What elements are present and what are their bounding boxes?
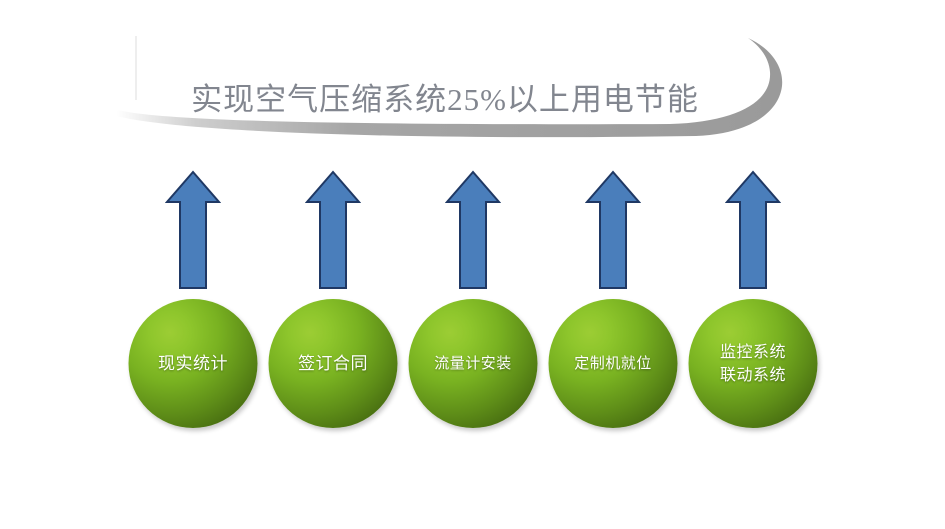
- title-banner: 实现空气压缩系统25%以上用电节能: [110, 30, 790, 140]
- up-arrow-icon: [445, 168, 501, 292]
- up-arrow-icon: [305, 168, 361, 292]
- step-bubble[interactable]: 流量计安装: [409, 299, 538, 428]
- up-arrow-icon: [165, 168, 221, 292]
- process-step-row: 现实统计 签订合同 流量计安装 定: [128, 168, 818, 438]
- step-bubble[interactable]: 签订合同: [269, 299, 398, 428]
- step-bubble[interactable]: 定制机就位: [549, 299, 678, 428]
- step-label: 流量计安装: [428, 353, 518, 375]
- process-step[interactable]: 定制机就位: [548, 168, 678, 436]
- process-step[interactable]: 签订合同: [268, 168, 398, 436]
- page-title: 实现空气压缩系统25%以上用电节能: [155, 74, 735, 119]
- up-arrow-icon: [725, 168, 781, 292]
- step-label: 监控系统 联动系统: [714, 341, 792, 387]
- up-arrow-icon: [585, 168, 641, 292]
- step-label: 现实统计: [152, 353, 234, 375]
- slide-canvas: 实现空气压缩系统25%以上用电节能 现实统计 签订合同: [0, 0, 945, 529]
- process-step[interactable]: 现实统计: [128, 168, 258, 436]
- process-step[interactable]: 监控系统 联动系统: [688, 168, 818, 436]
- step-bubble[interactable]: 监控系统 联动系统: [689, 299, 818, 428]
- step-bubble[interactable]: 现实统计: [129, 299, 258, 428]
- step-label: 签订合同: [292, 353, 374, 375]
- step-label: 定制机就位: [568, 353, 658, 375]
- process-step[interactable]: 流量计安装: [408, 168, 538, 436]
